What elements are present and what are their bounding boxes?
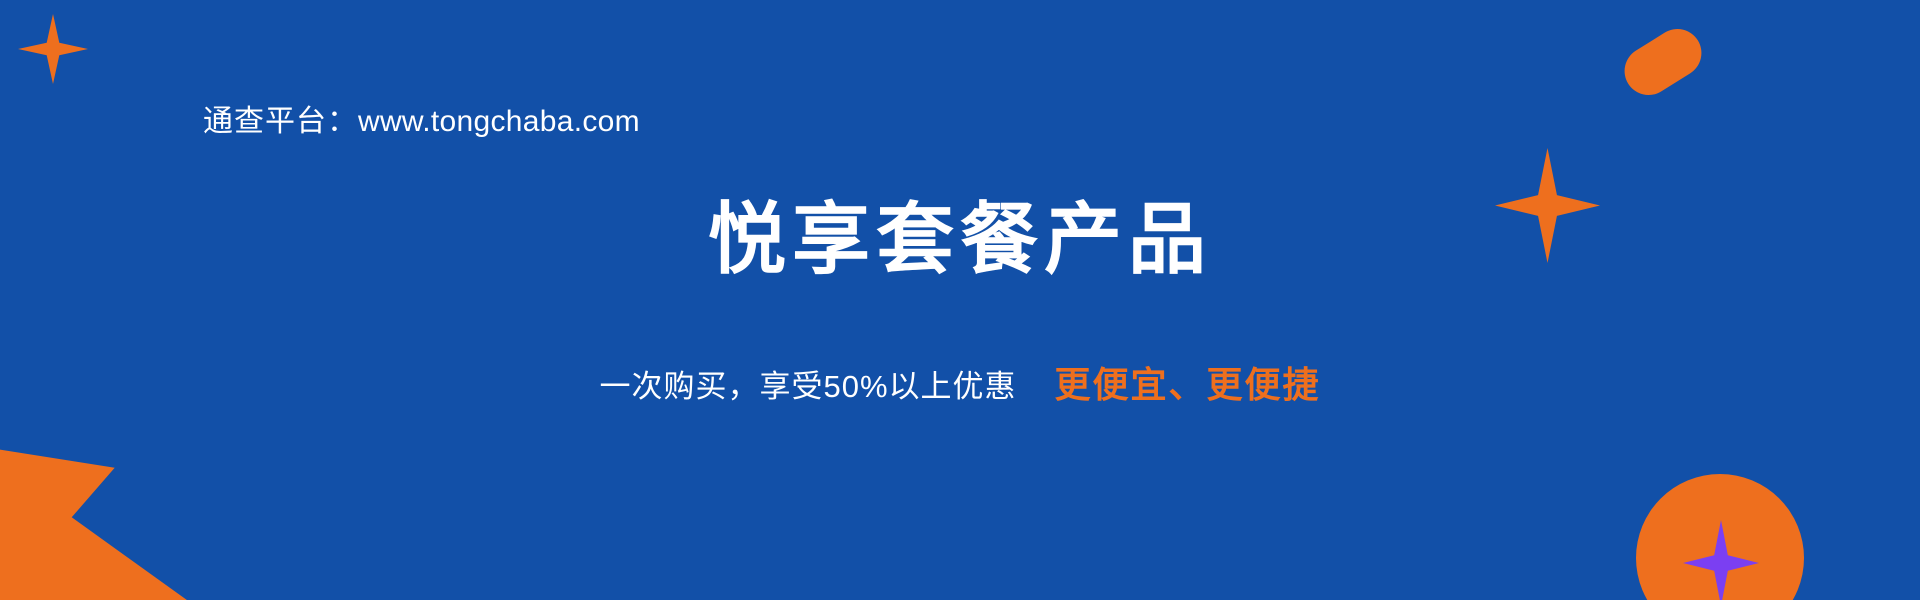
platform-label: 通查平台： — [203, 105, 358, 138]
promo-banner: 通查平台：www.tongchaba.com 悦享套餐产品 一次购买，享受50%… — [0, 0, 1920, 600]
capsule-shape-icon — [1616, 20, 1711, 104]
platform-url-line: 通查平台：www.tongchaba.com — [203, 104, 640, 140]
four-point-star-icon — [18, 14, 88, 84]
subtitle-line: 一次购买，享受50%以上优惠更便宜、更便捷 — [0, 365, 1920, 405]
angular-wedge-shape-icon — [0, 448, 205, 600]
platform-url: www.tongchaba.com — [358, 105, 640, 138]
circle-shape-icon — [1636, 474, 1804, 600]
page-title: 悦享套餐产品 — [0, 200, 1920, 278]
four-point-star-icon — [1683, 520, 1759, 600]
subtitle-plain-text: 一次购买，享受50%以上优惠 — [599, 369, 1016, 404]
subtitle-accent-text: 更便宜、更便捷 — [1055, 364, 1321, 405]
